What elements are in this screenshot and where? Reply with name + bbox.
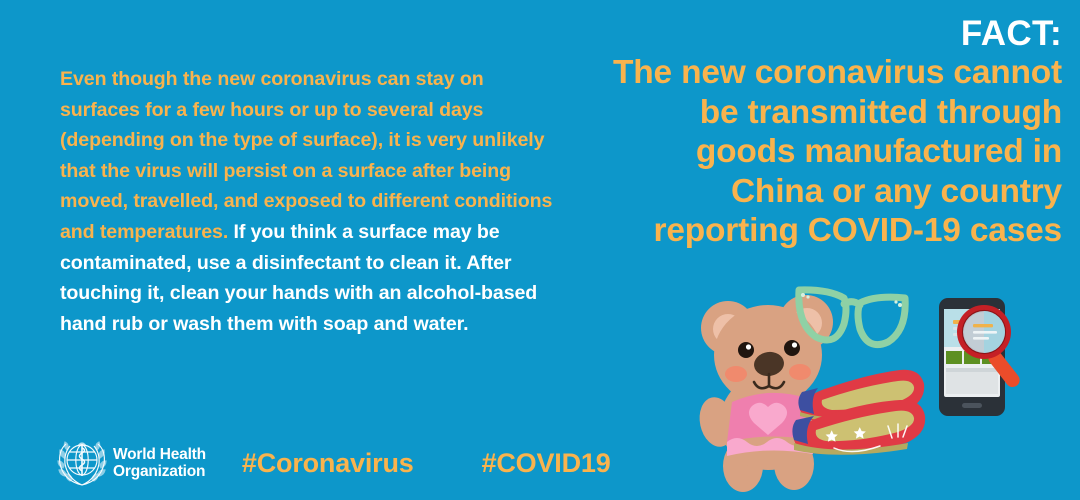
headline-line-3: goods manufactured in xyxy=(522,132,1062,172)
headline-line-4: China or any country xyxy=(522,172,1062,212)
headline-text: The new coronavirus cannot be transmitte… xyxy=(522,53,1062,251)
illustration-group xyxy=(640,268,1080,500)
ballet-flat-shoes-icon xyxy=(788,364,938,464)
body-paragraph-highlighted: Even though the new coronavirus can stay… xyxy=(60,68,552,243)
headline-line-5: reporting COVID-19 cases xyxy=(522,211,1062,251)
who-emblem-icon xyxy=(56,438,108,488)
who-wordmark: World Health Organization xyxy=(113,446,206,480)
fact-label: FACT: xyxy=(522,14,1062,53)
who-logo: World Health Organization xyxy=(56,438,206,488)
hashtag-covid19[interactable]: #COVID19 xyxy=(482,448,611,479)
smartphone-with-magnifier-icon xyxy=(935,296,1035,426)
headline-block: FACT: The new coronavirus cannot be tran… xyxy=(522,14,1062,251)
body-paragraph: Even though the new coronavirus can stay… xyxy=(60,64,560,339)
headline-line-2: be transmitted through xyxy=(522,93,1062,133)
who-covid-fact-poster: Even though the new coronavirus can stay… xyxy=(0,0,1080,500)
footer: World Health Organization #Coronavirus #… xyxy=(56,434,611,492)
headline-line-1: The new coronavirus cannot xyxy=(522,53,1062,93)
who-wordmark-line-2: Organization xyxy=(113,463,206,480)
eyeglasses-icon xyxy=(792,280,912,358)
hashtag-coronavirus[interactable]: #Coronavirus xyxy=(242,448,414,479)
who-wordmark-line-1: World Health xyxy=(113,446,206,463)
